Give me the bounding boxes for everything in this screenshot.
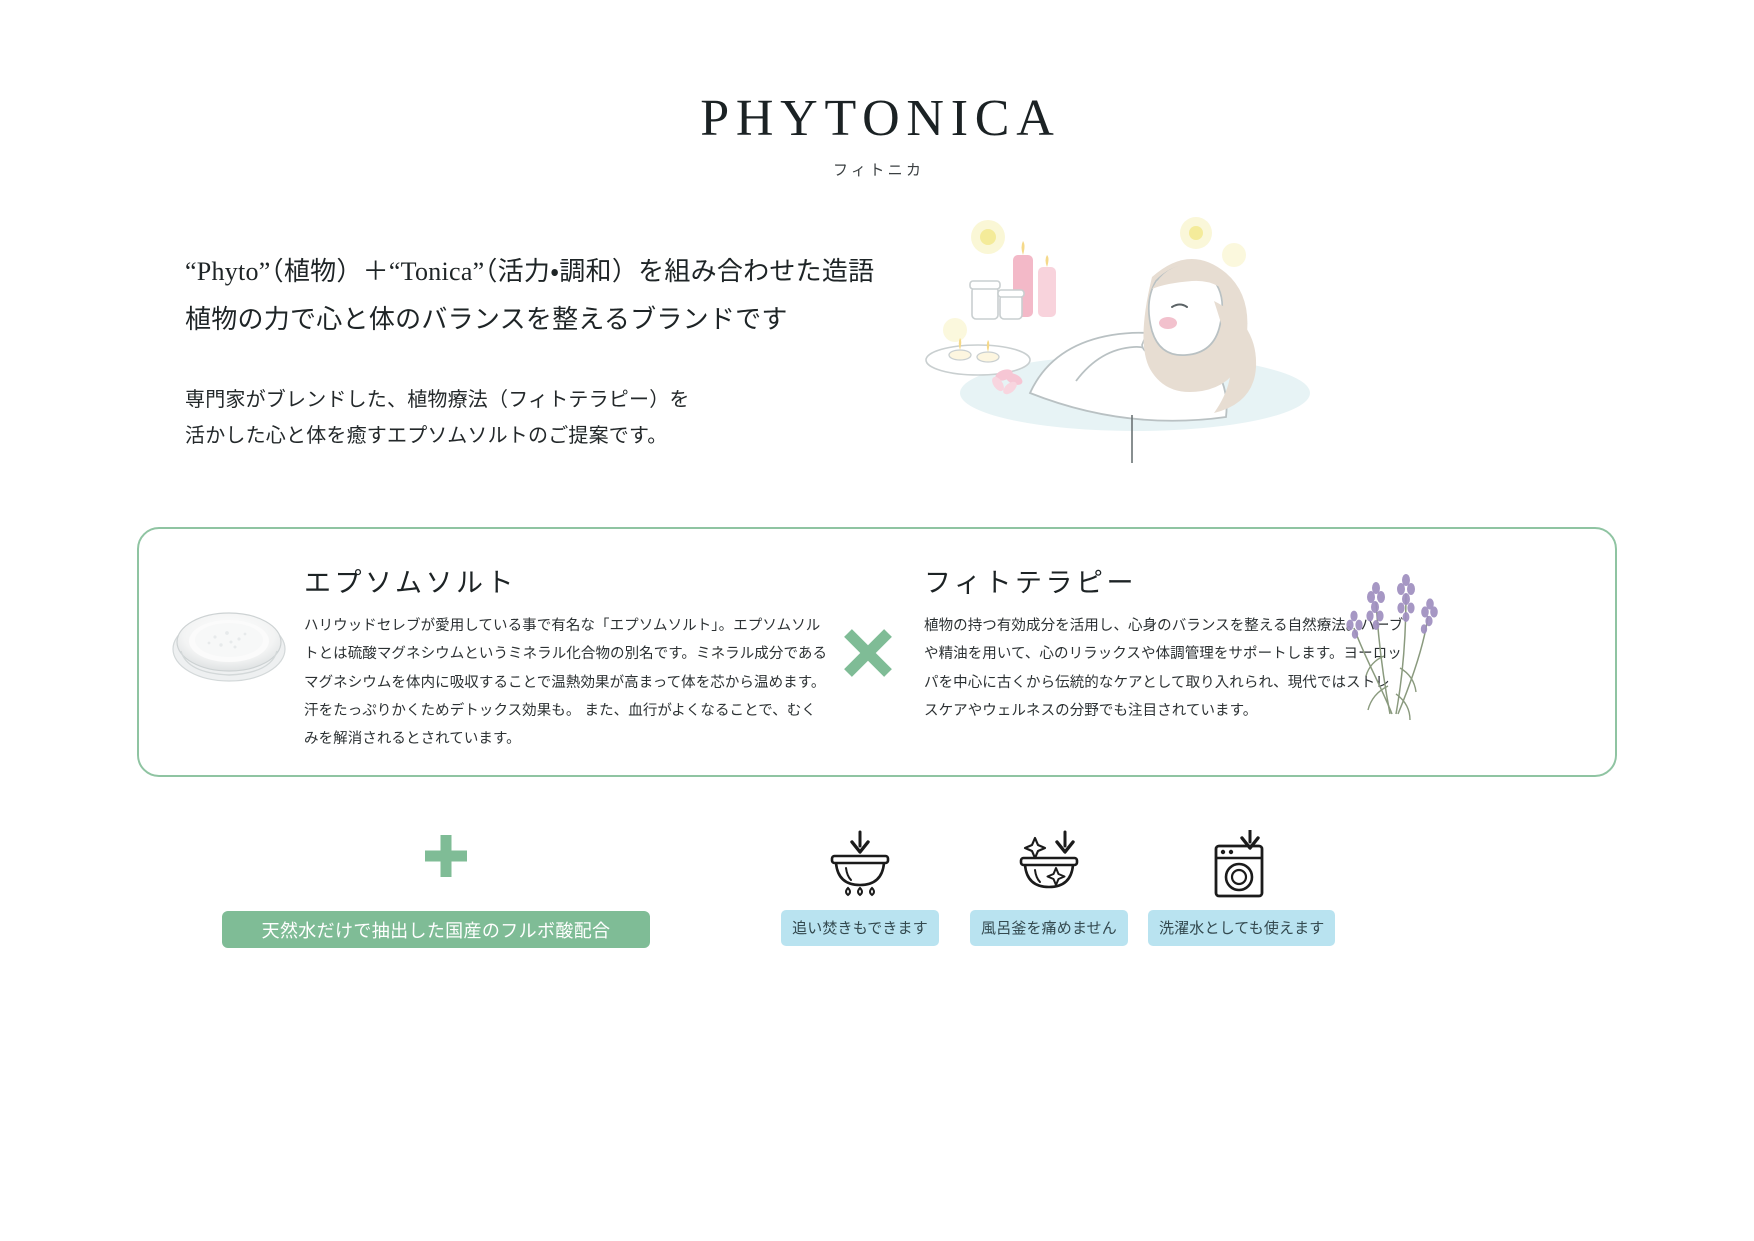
intro-sub-line-2: 活かした心と体を癒すエプソムソルトのご提案です。: [185, 418, 945, 454]
page-title: PHYTONICA: [0, 90, 1754, 147]
intro-sub-line-1: 専門家がブレンドした、植物療法（フィトテラピー）を: [185, 382, 945, 418]
epsom-salt-body: ハリウッドセレブが愛用している事で有名な「エプソムソルト」。エプソムソルトとは硫…: [304, 612, 829, 753]
fulvic-acid-highlight-badge: 天然水だけで抽出した国産のフルボ酸配合: [222, 911, 650, 948]
usage-badge-laundry: 洗濯水としても使えます: [1148, 830, 1328, 946]
plus-icon: [420, 830, 472, 882]
brand-header: PHYTONICA フィトニカ: [0, 90, 1754, 180]
cross-icon: [839, 624, 897, 682]
bathtub-sparkle-icon: [959, 830, 1139, 898]
lavender-sprigs-illustration: [1334, 564, 1454, 739]
intro-lead-line-1: “Phyto”（植物）＋“Tonica”（活力・調和）を組み合わせた造語: [185, 248, 945, 296]
page-root: PHYTONICA フィトニカ “Phyto”（植物）＋“Tonica”（活力・…: [0, 0, 1754, 1241]
usage-badge-reheat: 追い焚きもできます: [770, 830, 950, 946]
feature-column-phytotherapy: フィトテラピー 植物の持つ有効成分を活用し、心身のバランスを整える自然療法。ハー…: [924, 561, 1404, 725]
usage-badge-no-damage-label: 風呂釜を痛めません: [970, 910, 1128, 946]
phytotherapy-heading: フィトテラピー: [924, 561, 1404, 600]
usage-badge-group: 追い焚きもできます 風呂釜を痛めません: [770, 830, 1360, 960]
washing-machine-icon: [1148, 830, 1328, 898]
usage-badge-laundry-label: 洗濯水としても使えます: [1148, 910, 1335, 946]
woman-in-bath-with-candles-illustration: [900, 215, 1360, 465]
brand-subtitle: フィトニカ: [0, 159, 1754, 180]
usage-badge-reheat-label: 追い焚きもできます: [781, 910, 939, 946]
epsom-salt-heading: エプソムソルト: [304, 561, 829, 600]
usage-badge-no-damage: 風呂釜を痛めません: [959, 830, 1139, 946]
feature-card: エプソムソルト ハリウッドセレブが愛用している事で有名な「エプソムソルト」。エプ…: [137, 527, 1617, 777]
intro-block: “Phyto”（植物）＋“Tonica”（活力・調和）を組み合わせた造語 植物の…: [185, 248, 945, 454]
feature-column-epsom-salt: エプソムソルト ハリウッドセレブが愛用している事で有名な「エプソムソルト」。エプ…: [304, 561, 829, 753]
intro-lead-line-2: 植物の力で心と体のバランスを整えるブランドです: [185, 296, 945, 344]
epsom-salt-dish-photo: [169, 597, 289, 687]
bathtub-reheat-icon: [770, 830, 950, 898]
phytotherapy-body: 植物の持つ有効成分を活用し、心身のバランスを整える自然療法。ハーブや精油を用いて…: [924, 612, 1404, 725]
